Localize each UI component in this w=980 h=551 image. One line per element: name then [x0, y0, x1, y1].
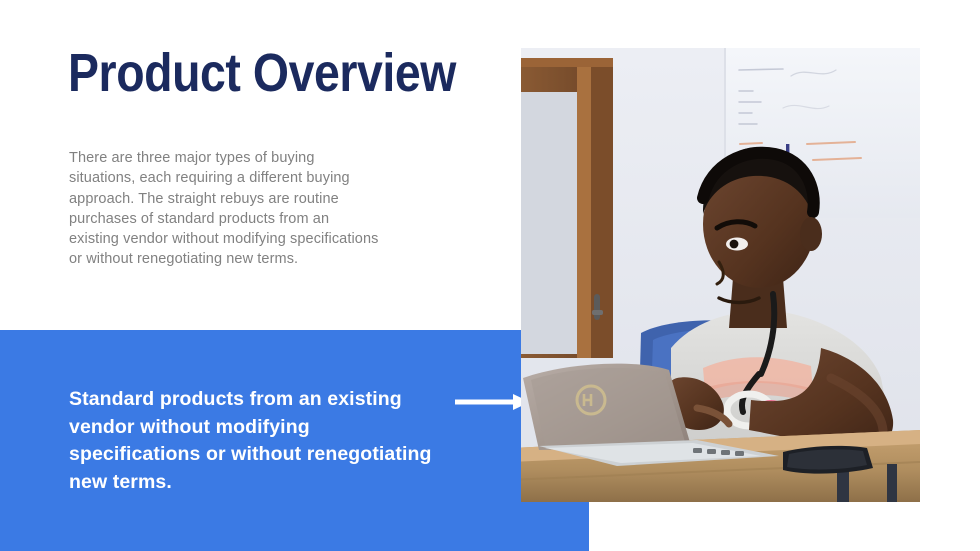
banner-callout-text: Standard products from an existing vendo… [69, 386, 439, 496]
page-title: Product Overview [68, 42, 456, 104]
body-paragraph: There are three major types of buying si… [69, 148, 381, 270]
slide-canvas: Product Overview There are three major t… [0, 0, 980, 551]
photo-person-at-laptop [521, 48, 920, 502]
arrow-right-icon [455, 394, 530, 410]
